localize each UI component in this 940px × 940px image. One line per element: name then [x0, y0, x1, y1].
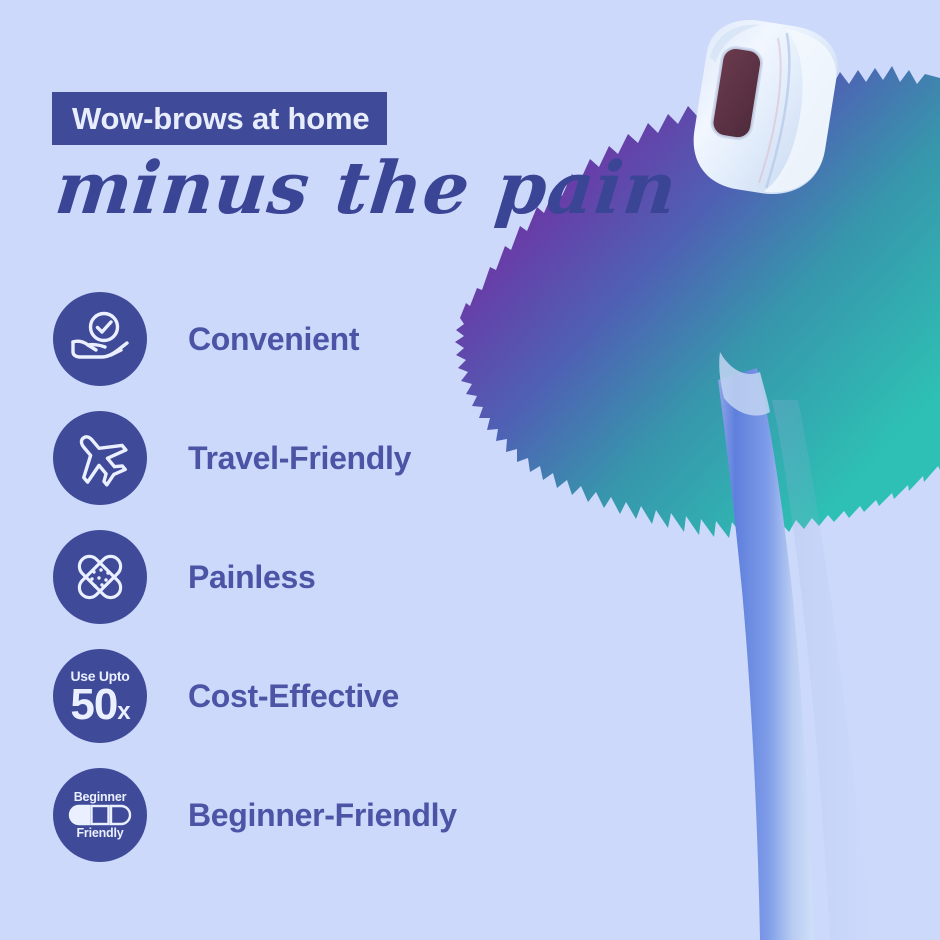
feature-item-convenient: Convenient	[53, 292, 523, 386]
feature-list: Convenient Travel-Friendly	[53, 292, 523, 887]
bandage-cross-icon	[53, 530, 147, 624]
use-upto-50x-icon: Use Upto 50x	[53, 649, 147, 743]
feature-label: Beginner-Friendly	[188, 797, 457, 834]
poster-canvas: Wow-brows at home minus the pain Conven	[0, 0, 940, 940]
level-pill	[68, 804, 132, 826]
feature-label: Travel-Friendly	[188, 440, 411, 477]
headline-badge-label: Wow-brows at home	[72, 103, 369, 134]
feature-item-travel-friendly: Travel-Friendly	[53, 411, 523, 505]
beginner-friendly-icon: Beginner Friendly	[53, 768, 147, 862]
airplane-icon	[53, 411, 147, 505]
feature-item-painless: Painless	[53, 530, 523, 624]
hand-check-icon	[53, 292, 147, 386]
feature-label: Painless	[188, 559, 315, 596]
friendly-text: Friendly	[53, 827, 147, 840]
feature-item-cost-effective: Use Upto 50x Cost-Effective	[53, 649, 523, 743]
beginner-text: Beginner	[53, 791, 147, 804]
headline-badge: Wow-brows at home	[52, 92, 387, 145]
feature-label: Convenient	[188, 321, 359, 358]
headline-script: minus the pain	[52, 152, 681, 224]
use-upto-value: 50x	[53, 683, 147, 727]
feature-item-beginner-friendly: Beginner Friendly Beginner-Friendly	[53, 768, 523, 862]
feature-label: Cost-Effective	[188, 678, 399, 715]
